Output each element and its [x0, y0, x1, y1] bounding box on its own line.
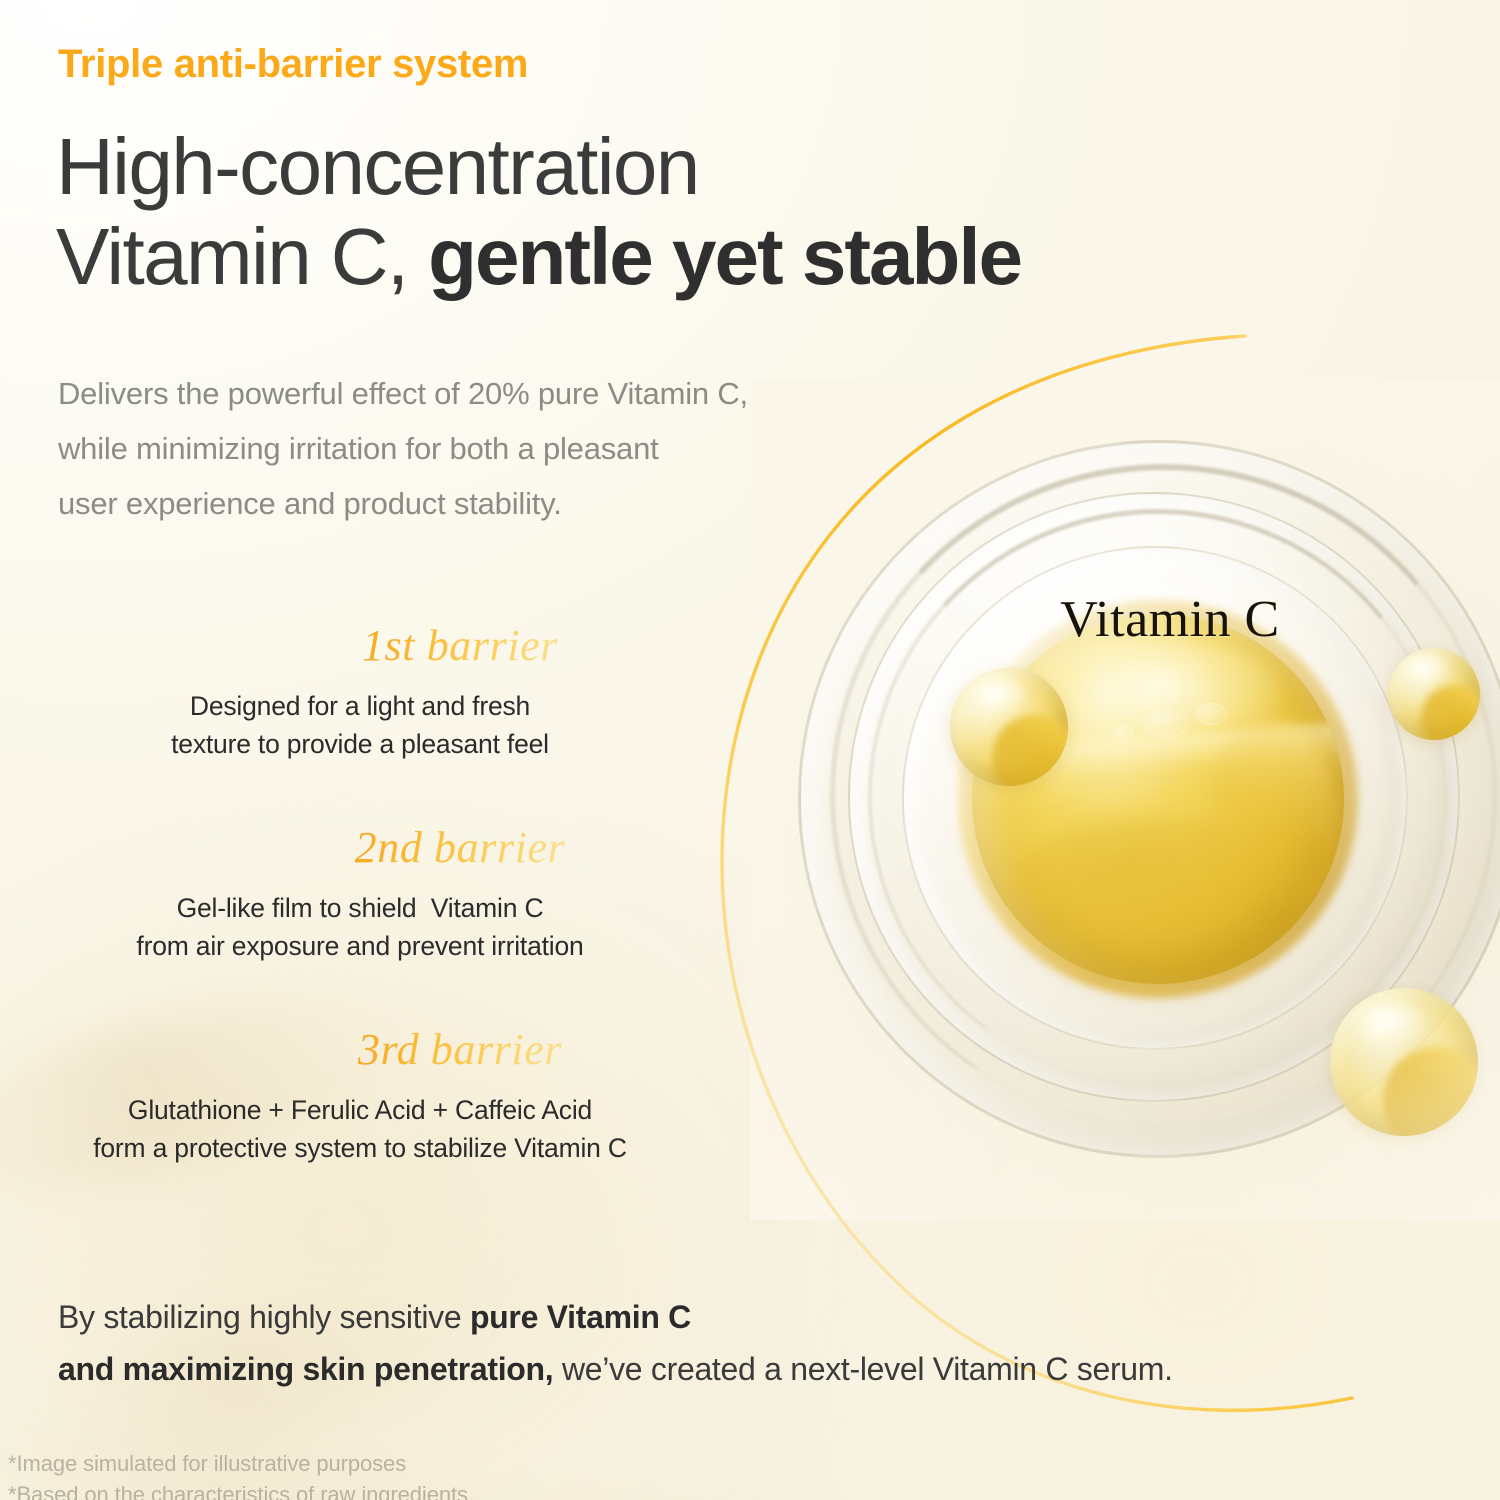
barrier-body-1: Designed for a light and fresh texture t… [10, 687, 710, 764]
barrier-block-1: 1st barrier Designed for a light and fre… [10, 620, 710, 764]
barrier-title-2: 2nd barrier [355, 822, 566, 873]
footnotes: *Image simulated for illustrative purpos… [8, 1448, 468, 1500]
barrier-1-line-1: Designed for a light and fresh [10, 687, 710, 725]
lede-line-1: Delivers the powerful effect of 20% pure… [58, 366, 958, 421]
eyebrow-label: Triple anti-barrier system [58, 42, 528, 87]
closing-line-1: By stabilizing highly sensitive pure Vit… [58, 1292, 1458, 1344]
headline-line-1: High-concentration [56, 122, 1236, 212]
barrier-2-line-2: from air exposure and prevent irritation [10, 927, 710, 965]
barrier-title-3: 3rd barrier [358, 1024, 562, 1075]
closing-2-bold: and maximizing skin penetration, [58, 1351, 553, 1387]
barrier-title-1: 1st barrier [362, 620, 558, 671]
promo-page: Vitamin C Triple anti-barrier system Hig… [0, 0, 1500, 1500]
closing-1-bold: pure Vitamin C [470, 1299, 691, 1335]
core-label: Vitamin C [790, 590, 1500, 649]
headline-regular: Vitamin C, [56, 212, 428, 301]
headline-bold: gentle yet stable [428, 212, 1021, 301]
barrier-body-3: Glutathione + Ferulic Acid + Caffeic Aci… [10, 1091, 710, 1168]
barrier-1-line-2: texture to provide a pleasant feel [10, 725, 710, 763]
lede-line-3: user experience and product stability. [58, 476, 958, 531]
barrier-3-line-1: Glutathione + Ferulic Acid + Caffeic Aci… [10, 1091, 710, 1129]
closing-1-regular: By stabilizing highly sensitive [58, 1299, 470, 1335]
lede-line-2: while minimizing irritation for both a p… [58, 421, 958, 476]
footnote-2: *Based on the characteristics of raw ing… [8, 1479, 468, 1500]
footnote-1: *Image simulated for illustrative purpos… [8, 1448, 468, 1479]
content-layer: Triple anti-barrier system High-concentr… [0, 0, 1500, 1500]
barrier-block-2: 2nd barrier Gel-like film to shield Vita… [10, 822, 710, 966]
closing-line-2: and maximizing skin penetration, we’ve c… [58, 1344, 1458, 1396]
headline-line-2: Vitamin C, gentle yet stable [56, 212, 1236, 302]
page-title: High-concentration Vitamin C, gentle yet… [56, 122, 1236, 301]
barrier-3-line-2: form a protective system to stabilize Vi… [10, 1129, 710, 1167]
barrier-block-3: 3rd barrier Glutathione + Ferulic Acid +… [10, 1024, 710, 1168]
closing-2-regular: we’ve created a next-level Vitamin C ser… [553, 1351, 1172, 1387]
barrier-2-line-1: Gel-like film to shield Vitamin C [10, 889, 710, 927]
lede-paragraph: Delivers the powerful effect of 20% pure… [58, 366, 958, 532]
barrier-body-2: Gel-like film to shield Vitamin C from a… [10, 889, 710, 966]
closing-statement: By stabilizing highly sensitive pure Vit… [58, 1292, 1458, 1396]
